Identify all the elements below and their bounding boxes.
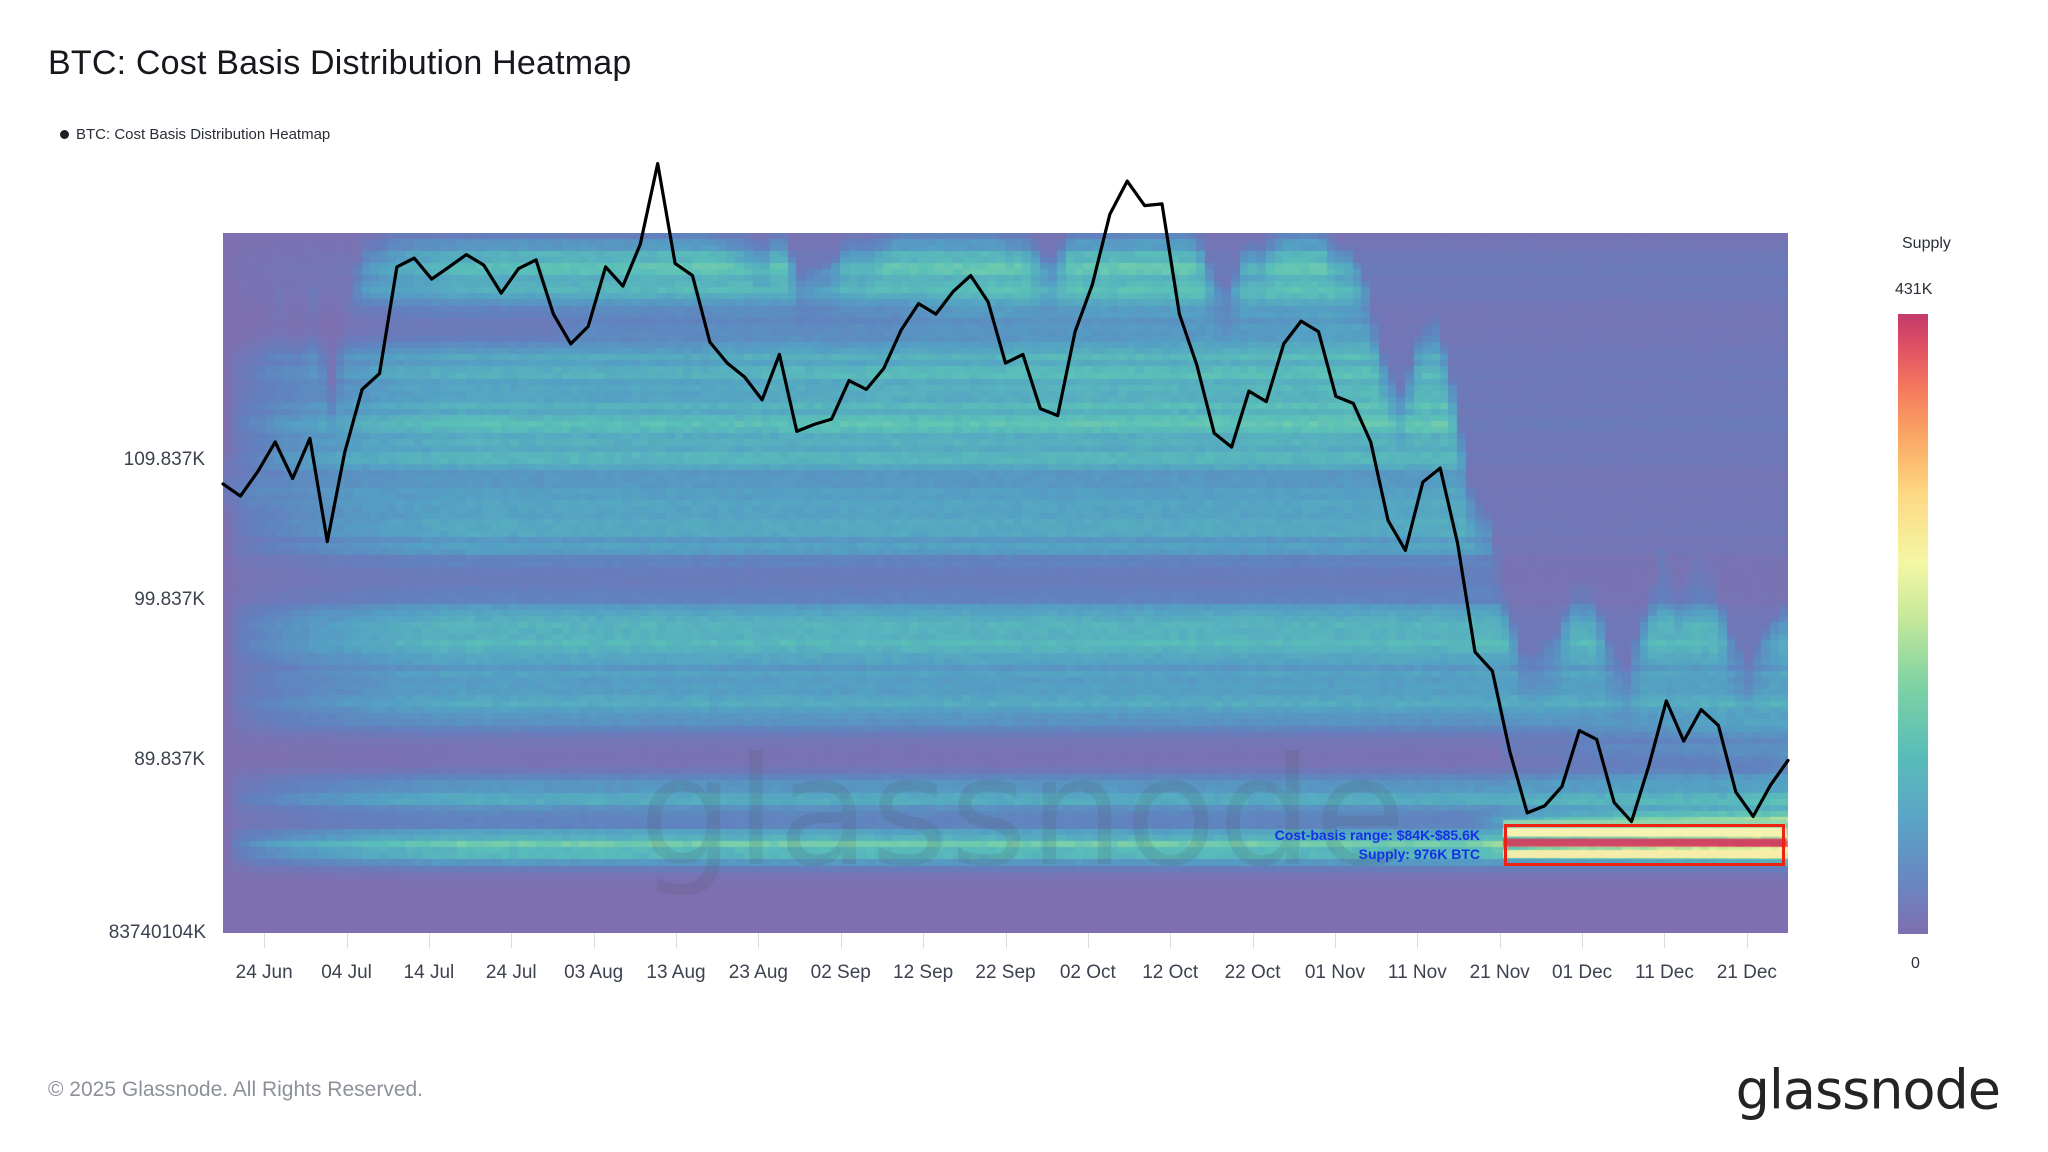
x-axis-tick-mark	[1006, 933, 1007, 948]
chart-legend[interactable]: BTC: Cost Basis Distribution Heatmap	[60, 126, 330, 143]
x-axis-tick-mark	[264, 933, 265, 948]
circle-marker-icon	[60, 130, 69, 139]
x-axis-tick-mark	[758, 933, 759, 948]
colorbar-gradient[interactable]	[1898, 314, 1928, 934]
annotation-line-supply: Supply: 976K BTC	[1180, 845, 1480, 864]
x-axis-tick-label: 22 Sep	[975, 962, 1035, 984]
x-axis-tick-label: 01 Nov	[1305, 962, 1365, 984]
x-axis-tick-mark	[1088, 933, 1089, 948]
x-axis-tick-label: 24 Jun	[236, 962, 293, 984]
x-axis-tick-label: 14 Jul	[404, 962, 455, 984]
x-axis-tick-mark	[1170, 933, 1171, 948]
x-axis-tick-label: 11 Dec	[1635, 962, 1694, 984]
x-axis-tick-label: 01 Dec	[1552, 962, 1612, 984]
chart-page: BTC: Cost Basis Distribution Heatmap BTC…	[0, 0, 2048, 1152]
x-axis-tick-mark	[923, 933, 924, 948]
page-title: BTC: Cost Basis Distribution Heatmap	[48, 44, 632, 83]
x-axis-tick-label: 12 Sep	[893, 962, 953, 984]
x-axis-tick-label: 12 Oct	[1142, 962, 1198, 984]
x-axis-tick-mark	[1335, 933, 1336, 948]
brand-logo: glassnode	[1736, 1059, 2000, 1122]
x-axis-tick-mark	[1582, 933, 1583, 948]
x-axis-tick-mark	[594, 933, 595, 948]
x-axis-tick-label: 22 Oct	[1225, 962, 1281, 984]
x-axis-tick-label: 04 Jul	[321, 962, 372, 984]
x-axis: 24 Jun04 Jul14 Jul24 Jul03 Aug13 Aug23 A…	[223, 933, 1788, 993]
heatmap-plot-area[interactable]: glassnode	[223, 233, 1788, 933]
x-axis-tick-mark	[841, 933, 842, 948]
x-axis-tick-label: 21 Nov	[1470, 962, 1530, 984]
price-line-path	[223, 164, 1788, 822]
annotation-line-range: Cost-basis range: $84K-$85.6K	[1180, 826, 1480, 845]
price-line-series	[223, 233, 1788, 933]
y-axis-tick-label: 109.837K	[124, 449, 205, 471]
colorbar-max-label: 431K	[1895, 281, 1932, 299]
x-axis-tick-label: 13 Aug	[646, 962, 705, 984]
y-axis: 109.837K 99.837K 89.837K 83740104K	[0, 233, 205, 933]
x-axis-tick-label: 02 Oct	[1060, 962, 1116, 984]
y-axis-tick-label: 99.837K	[134, 589, 205, 611]
x-axis-tick-mark	[676, 933, 677, 948]
x-axis-tick-mark	[347, 933, 348, 948]
x-axis-tick-label: 11 Nov	[1388, 962, 1447, 984]
x-axis-tick-mark	[1417, 933, 1418, 948]
x-axis-tick-mark	[1253, 933, 1254, 948]
x-axis-tick-mark	[1664, 933, 1665, 948]
x-axis-tick-label: 24 Jul	[486, 962, 537, 984]
legend-item-label: BTC: Cost Basis Distribution Heatmap	[76, 126, 330, 143]
copyright-text: © 2025 Glassnode. All Rights Reserved.	[48, 1078, 423, 1102]
x-axis-tick-mark	[1500, 933, 1501, 948]
x-axis-tick-mark	[1747, 933, 1748, 948]
x-axis-tick-mark	[511, 933, 512, 948]
colorbar-title: Supply	[1902, 235, 1951, 253]
annotation-text: Cost-basis range: $84K-$85.6K Supply: 97…	[1180, 826, 1480, 864]
y-axis-tick-label: 89.837K	[134, 749, 205, 771]
x-axis-tick-label: 02 Sep	[811, 962, 871, 984]
x-axis-tick-label: 23 Aug	[729, 962, 788, 984]
x-axis-tick-mark	[429, 933, 430, 948]
x-axis-tick-label: 21 Dec	[1717, 962, 1777, 984]
y-axis-tick-label: 83740104K	[78, 922, 206, 944]
colorbar-min-label: 0	[1911, 955, 1920, 973]
x-axis-tick-label: 03 Aug	[564, 962, 623, 984]
